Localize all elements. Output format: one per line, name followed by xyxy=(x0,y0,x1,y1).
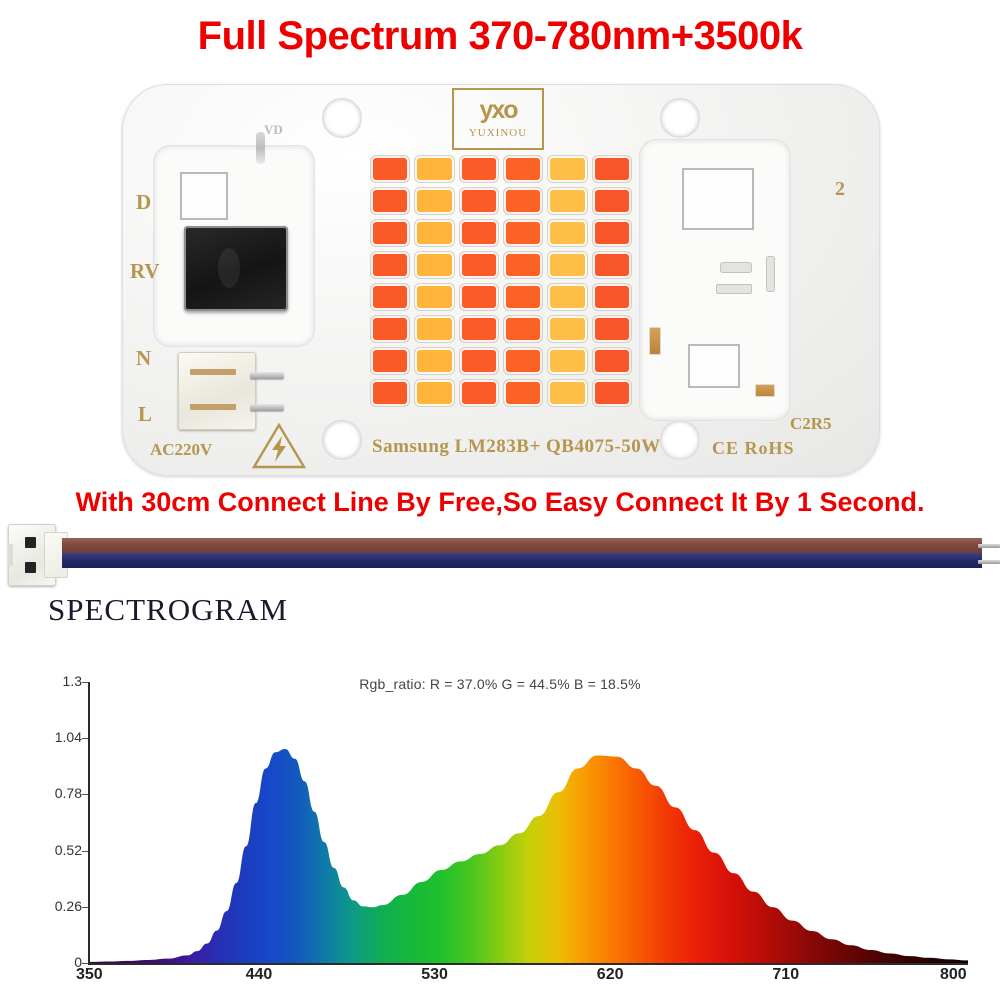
led-chip xyxy=(593,188,631,214)
smd-component xyxy=(720,262,752,273)
led-chip xyxy=(504,316,542,342)
led-board: yxo YUXINOU VD D RV N L 2 C2R5 AC220V Sa… xyxy=(122,84,880,476)
logo-brand-name: YUXINOU xyxy=(452,127,544,139)
connector-pin xyxy=(250,404,284,411)
led-matrix xyxy=(371,156,631,406)
led-chip xyxy=(460,156,498,182)
led-chip xyxy=(371,220,409,246)
solder-pad xyxy=(682,168,754,230)
wire-tinned-tip xyxy=(978,544,1000,548)
x-tick-label: 800 xyxy=(940,966,967,984)
x-tick-label: 350 xyxy=(76,966,103,984)
led-chip xyxy=(593,348,631,374)
x-tick-label: 620 xyxy=(597,966,624,984)
promo-banner: With 30cm Connect Line By Free,So Easy C… xyxy=(0,487,1000,518)
solder-pad xyxy=(180,172,228,220)
led-chip xyxy=(371,348,409,374)
smd-component xyxy=(766,256,775,292)
mounting-hole xyxy=(660,420,700,460)
silkscreen-part-number: Samsung LM283B+ QB4075-50W xyxy=(372,436,661,458)
x-tick-label: 440 xyxy=(246,966,273,984)
led-chip xyxy=(504,220,542,246)
y-tick-label: 0.26 xyxy=(32,898,82,914)
smd-resistor xyxy=(649,327,661,355)
wire-tinned-tip xyxy=(978,560,1000,564)
plug-terminal xyxy=(25,537,36,548)
led-chip xyxy=(460,380,498,406)
silkscreen-certifications: CE RoHS xyxy=(712,438,795,459)
silkscreen-label-l: L xyxy=(138,402,152,427)
led-chip xyxy=(548,220,586,246)
led-chip xyxy=(460,188,498,214)
x-axis-line xyxy=(88,963,968,965)
wire-brown-lead xyxy=(62,538,982,553)
y-tick-label: 1.04 xyxy=(32,729,82,745)
driver-ic-chip xyxy=(184,226,288,311)
led-chip xyxy=(371,380,409,406)
led-chip xyxy=(415,156,453,182)
high-voltage-warning-icon xyxy=(252,422,306,468)
led-chip xyxy=(415,252,453,278)
plug-latch xyxy=(8,544,13,566)
led-chip xyxy=(593,220,631,246)
solder-pad xyxy=(688,344,740,388)
led-chip xyxy=(371,316,409,342)
led-chip xyxy=(548,348,586,374)
silkscreen-label-d: D xyxy=(136,190,151,215)
logo-mark: yxo xyxy=(460,95,536,125)
connect-wire xyxy=(0,520,1000,592)
connector-pin xyxy=(250,372,284,379)
mounting-hole xyxy=(322,420,362,460)
led-chip xyxy=(548,156,586,182)
led-chip xyxy=(504,348,542,374)
led-chip xyxy=(415,380,453,406)
led-chip xyxy=(460,252,498,278)
spectrogram-heading: SPECTROGRAM xyxy=(48,592,288,628)
led-chip xyxy=(460,348,498,374)
wire-blue-lead xyxy=(62,553,982,568)
led-chip xyxy=(504,284,542,310)
plug-terminal xyxy=(25,562,36,573)
led-chip xyxy=(548,316,586,342)
led-chip xyxy=(371,156,409,182)
led-chip xyxy=(548,284,586,310)
mounting-hole xyxy=(660,98,700,138)
silkscreen-label-vd: VD xyxy=(264,122,283,138)
y-tick xyxy=(82,851,88,852)
led-chip xyxy=(548,252,586,278)
mounting-hole xyxy=(322,98,362,138)
led-chip xyxy=(460,284,498,310)
led-chip xyxy=(460,316,498,342)
silkscreen-label-rv: RV xyxy=(130,259,160,284)
page-title: Full Spectrum 370-780nm+3500k xyxy=(0,14,1000,59)
silkscreen-voltage: AC220V xyxy=(150,440,212,460)
y-tick-label: 0 xyxy=(32,954,82,970)
connector-slot xyxy=(190,404,236,410)
led-chip xyxy=(593,156,631,182)
spectrum-curve xyxy=(90,682,968,963)
smd-resistor xyxy=(755,384,775,397)
y-tick xyxy=(82,682,88,683)
brand-logo: yxo YUXINOU xyxy=(452,88,544,150)
silkscreen-label-c2r5: C2R5 xyxy=(790,414,832,434)
led-chip xyxy=(504,156,542,182)
led-chip xyxy=(460,220,498,246)
spectrogram-chart: Rgb_ratio: R = 37.0% G = 44.5% B = 18.5%… xyxy=(0,664,1000,1000)
led-chip xyxy=(371,284,409,310)
led-chip xyxy=(504,252,542,278)
led-chip xyxy=(548,188,586,214)
y-tick-label: 0.52 xyxy=(32,842,82,858)
led-chip xyxy=(371,188,409,214)
silkscreen-label-2: 2 xyxy=(835,178,845,201)
smd-component xyxy=(716,284,752,294)
board-connector xyxy=(178,352,256,430)
y-tick xyxy=(82,907,88,908)
led-chip xyxy=(371,252,409,278)
led-chip xyxy=(504,188,542,214)
connector-slot xyxy=(190,369,236,375)
x-tick-label: 530 xyxy=(421,966,448,984)
spectrum-area xyxy=(90,749,968,963)
led-chip xyxy=(415,188,453,214)
y-tick xyxy=(82,963,88,964)
led-chip xyxy=(593,380,631,406)
led-chip xyxy=(593,316,631,342)
led-chip xyxy=(415,348,453,374)
y-tick-label: 0.78 xyxy=(32,785,82,801)
led-chip xyxy=(415,316,453,342)
silkscreen-label-n: N xyxy=(136,346,151,371)
led-chip xyxy=(415,284,453,310)
y-tick xyxy=(82,738,88,739)
y-tick-label: 1.3 xyxy=(32,673,82,689)
y-tick xyxy=(82,794,88,795)
x-tick-label: 710 xyxy=(772,966,799,984)
led-chip xyxy=(593,284,631,310)
led-chip xyxy=(415,220,453,246)
led-chip xyxy=(593,252,631,278)
led-chip xyxy=(504,380,542,406)
led-chip xyxy=(548,380,586,406)
